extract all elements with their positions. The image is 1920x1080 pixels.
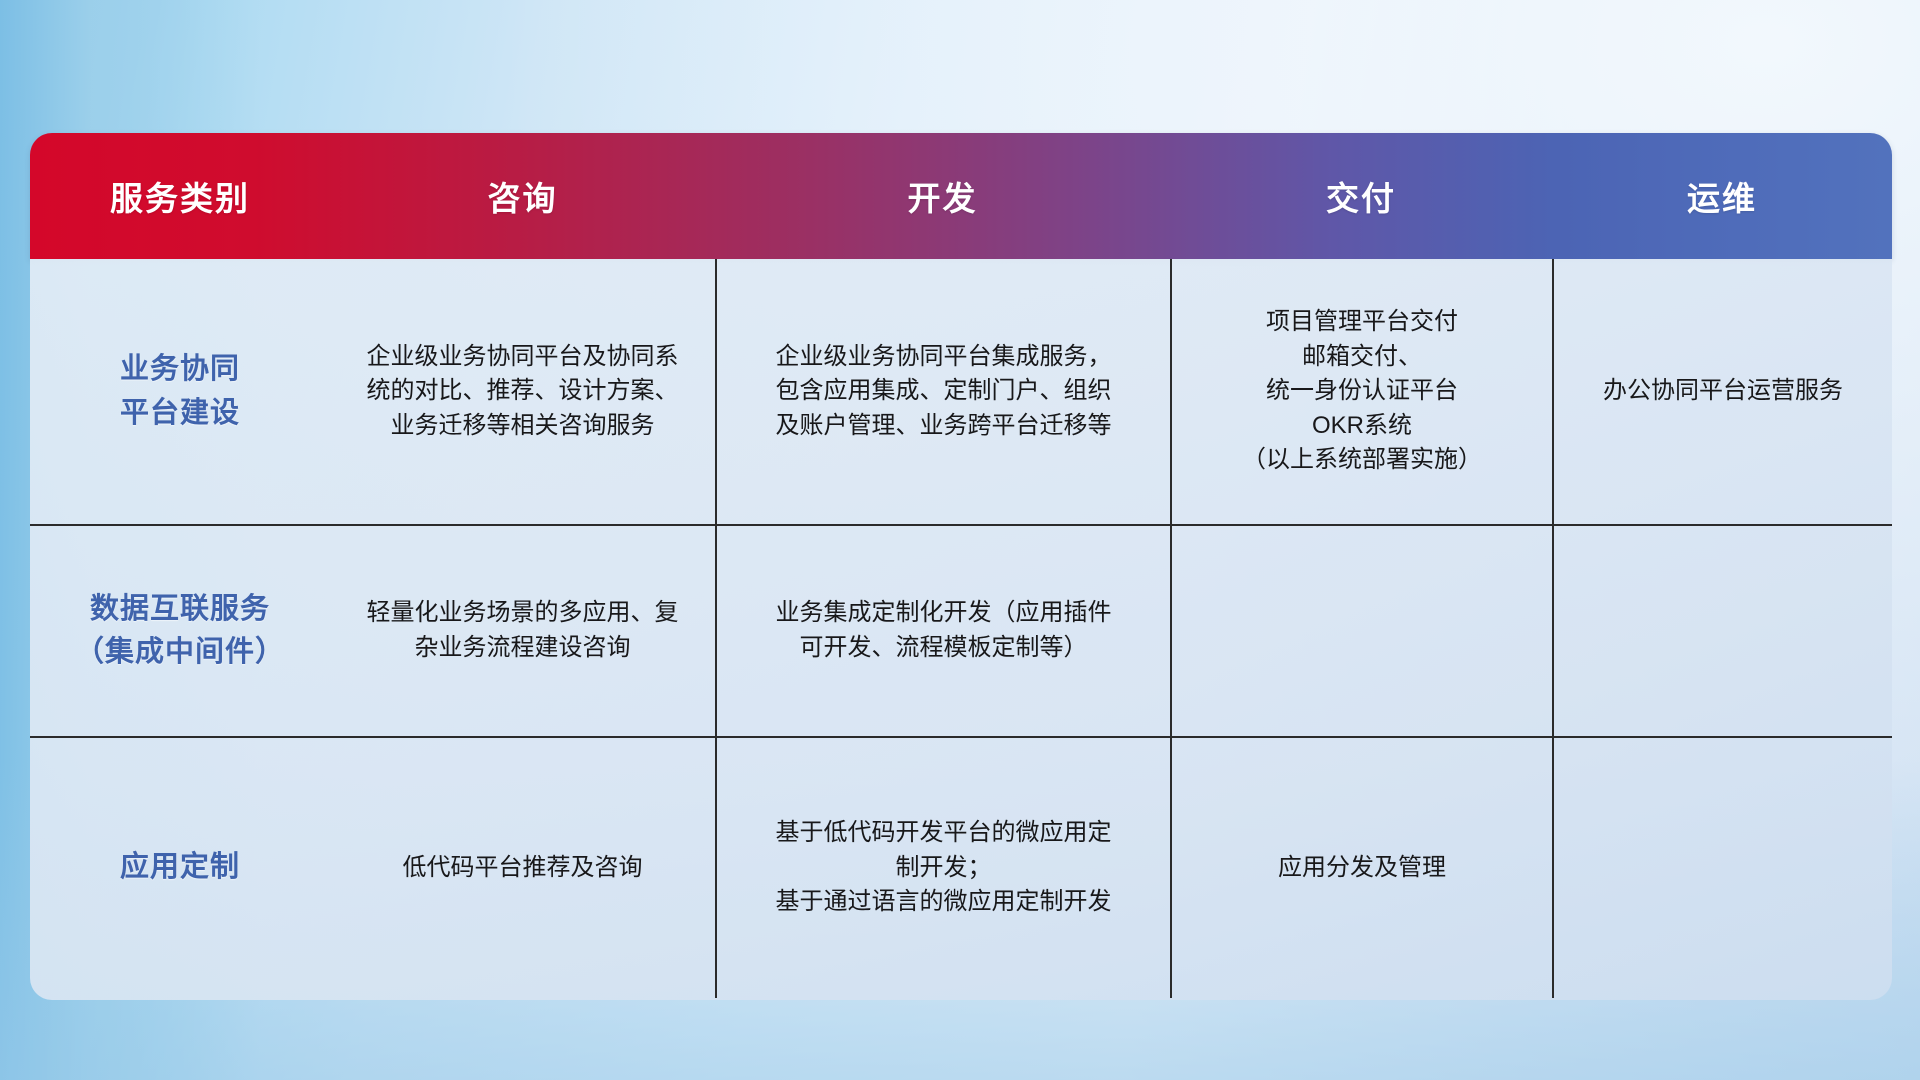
column-header-operations: 运维 xyxy=(1552,133,1892,259)
cell-development: 基于低代码开发平台的微应用定 制开发； 基于通过语言的微应用定制开发 xyxy=(715,738,1170,998)
cell-operations xyxy=(1552,526,1892,736)
cell-delivery: 项目管理平台交付 邮箱交付、 统一身份认证平台 OKR系统 （以上系统部署实施） xyxy=(1170,259,1552,524)
row-category-label: 数据互联服务 （集成中间件） xyxy=(30,526,330,736)
column-header-consulting: 咨询 xyxy=(330,133,715,259)
cell-development: 业务集成定制化开发（应用插件 可开发、流程模板定制等） xyxy=(715,526,1170,736)
table-row: 业务协同 平台建设 企业级业务协同平台及协同系 统的对比、推荐、设计方案、 业务… xyxy=(30,259,1892,526)
cell-operations: 办公协同平台运营服务 xyxy=(1552,259,1892,524)
cell-consulting: 低代码平台推荐及咨询 xyxy=(330,738,715,998)
column-header-service-category: 服务类别 xyxy=(30,133,330,259)
cell-delivery xyxy=(1170,526,1552,736)
cell-consulting: 企业级业务协同平台及协同系 统的对比、推荐、设计方案、 业务迁移等相关咨询服务 xyxy=(330,259,715,524)
table-row: 应用定制 低代码平台推荐及咨询 基于低代码开发平台的微应用定 制开发； 基于通过… xyxy=(30,738,1892,998)
row-category-label: 业务协同 平台建设 xyxy=(30,259,330,524)
cell-operations xyxy=(1552,738,1892,998)
table-header-row: 服务类别 咨询 开发 交付 运维 xyxy=(30,133,1892,259)
cell-delivery: 应用分发及管理 xyxy=(1170,738,1552,998)
service-matrix-table: 服务类别 咨询 开发 交付 运维 业务协同 平台建设 企业级业务协同平台及协同系… xyxy=(30,133,1892,1000)
cell-consulting: 轻量化业务场景的多应用、复 杂业务流程建设咨询 xyxy=(330,526,715,736)
table-body: 业务协同 平台建设 企业级业务协同平台及协同系 统的对比、推荐、设计方案、 业务… xyxy=(30,259,1892,1000)
row-category-label: 应用定制 xyxy=(30,738,330,998)
table-row: 数据互联服务 （集成中间件） 轻量化业务场景的多应用、复 杂业务流程建设咨询 业… xyxy=(30,526,1892,738)
cell-development: 企业级业务协同平台集成服务， 包含应用集成、定制门户、组织 及账户管理、业务跨平… xyxy=(715,259,1170,524)
column-header-development: 开发 xyxy=(715,133,1170,259)
column-header-delivery: 交付 xyxy=(1170,133,1552,259)
